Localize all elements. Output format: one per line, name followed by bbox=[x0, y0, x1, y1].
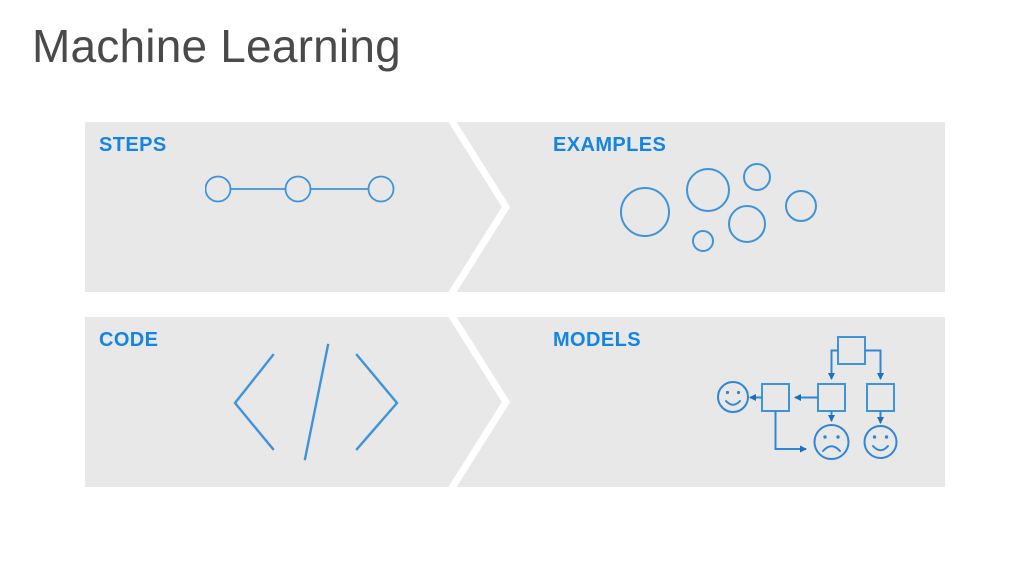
edge-root-to-right bbox=[865, 351, 881, 380]
face-happy-right bbox=[865, 426, 897, 458]
examples-circles-icon bbox=[615, 152, 830, 267]
box-mid-left bbox=[762, 384, 789, 411]
edge-root-to-center bbox=[832, 351, 839, 380]
box-mid-center bbox=[818, 384, 845, 411]
right-angle-bracket bbox=[357, 355, 397, 449]
code-brackets-icon bbox=[225, 337, 415, 472]
face-sad-center bbox=[815, 425, 849, 459]
chevron-divider-icon bbox=[430, 122, 540, 292]
panel-label-steps: STEPS bbox=[99, 134, 167, 157]
face-happy-left bbox=[718, 382, 748, 412]
panel-label-examples: EXAMPLES bbox=[553, 134, 666, 157]
panel-label-models: MODELS bbox=[553, 329, 641, 352]
box-mid-right bbox=[867, 384, 894, 411]
panel-row-top: STEPS EXAMPLES bbox=[85, 122, 945, 292]
page-title: Machine Learning bbox=[32, 22, 401, 70]
panel-row-bottom: CODE MODELS bbox=[85, 317, 945, 487]
chevron-divider-icon bbox=[430, 317, 540, 487]
left-angle-bracket bbox=[235, 355, 273, 449]
slash-stroke bbox=[305, 345, 328, 459]
edge-left-to-sad bbox=[776, 411, 807, 449]
panel-label-code: CODE bbox=[99, 329, 158, 352]
box-root bbox=[838, 337, 865, 364]
steps-nodes-icon bbox=[205, 174, 405, 209]
